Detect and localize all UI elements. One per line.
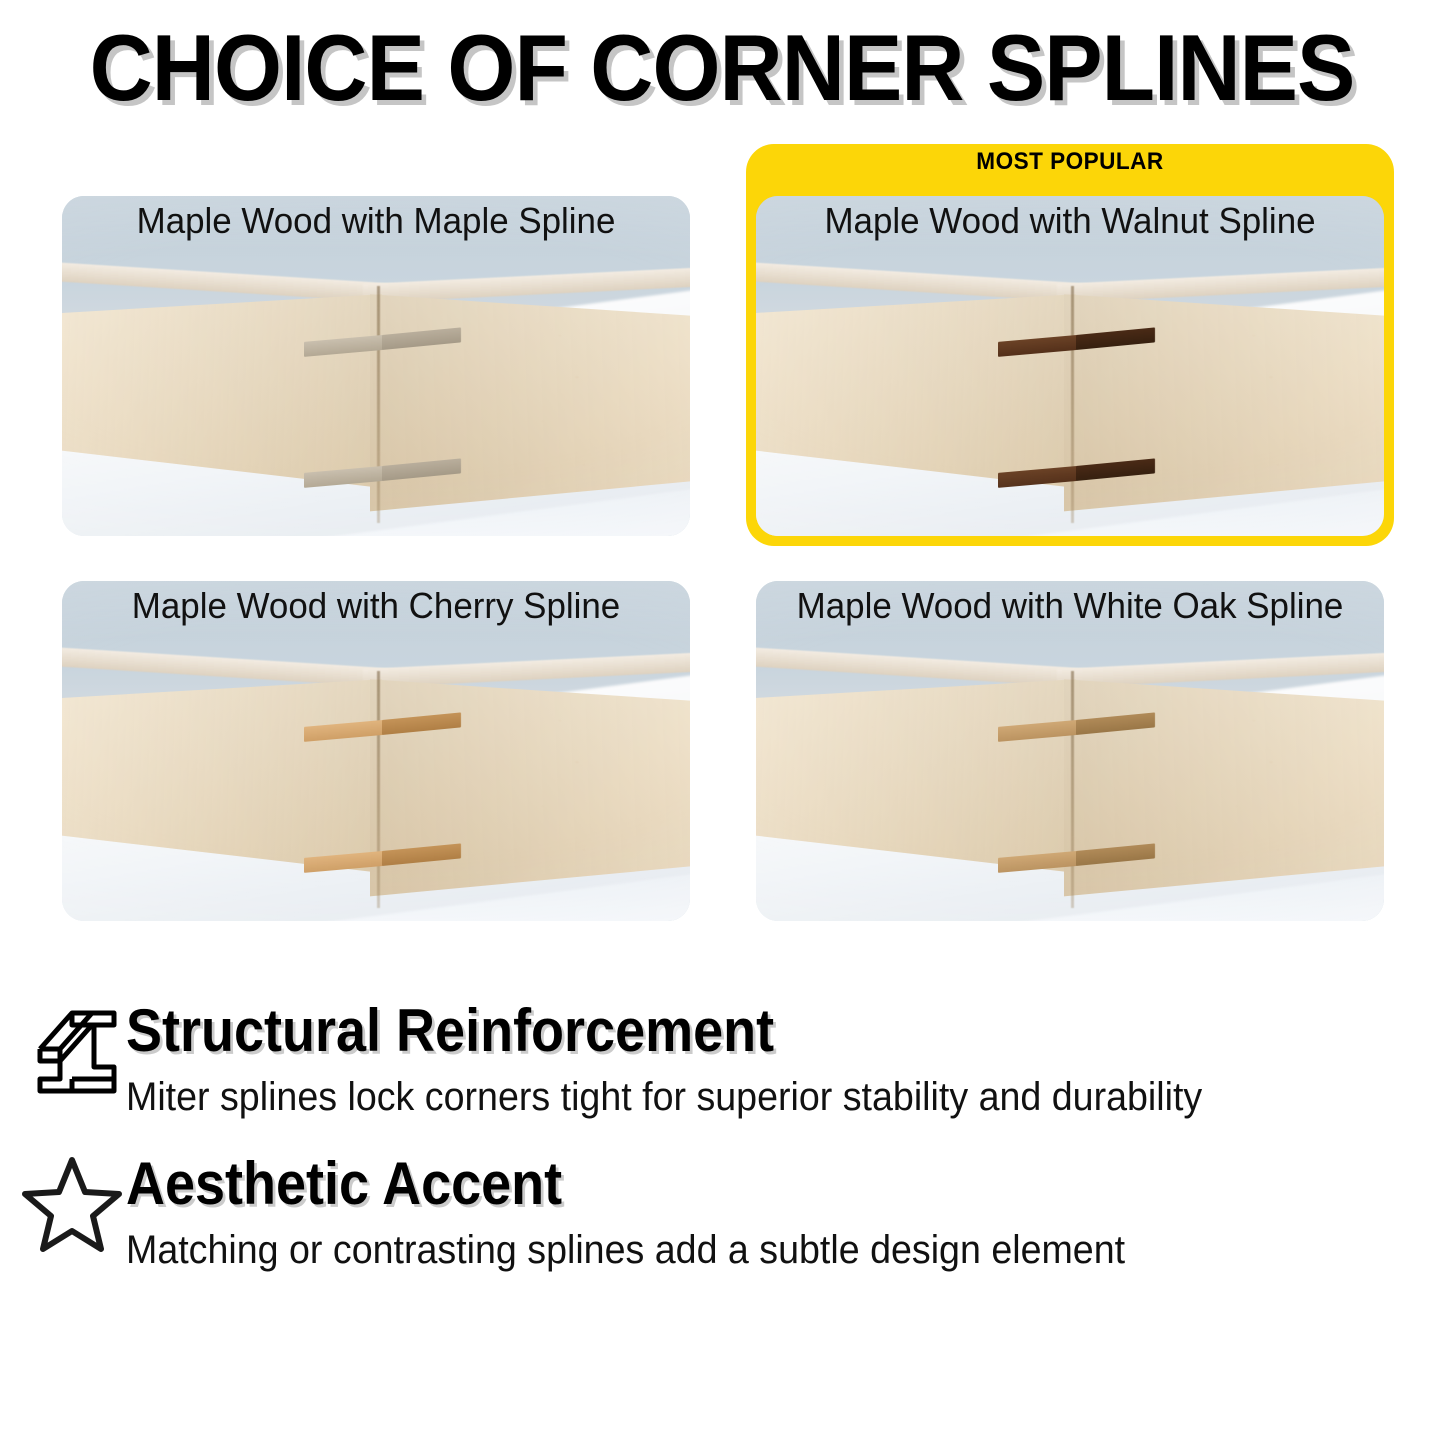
- most-popular-badge: MOST POPULAR: [765, 148, 1374, 176]
- feature-title: Structural Reinforcement: [126, 999, 1156, 1062]
- miter-seam: [377, 286, 380, 522]
- feature-aesthetic-accent: Aesthetic Accent Matching or contrasting…: [0, 1148, 1445, 1273]
- wooden-box-corner: [756, 267, 1384, 536]
- wood-grain: [1064, 294, 1384, 525]
- i-beam-icon: [18, 995, 126, 1105]
- feature-text: Structural Reinforcement Miter splines l…: [126, 995, 1271, 1120]
- box-rim-right: [1057, 651, 1384, 687]
- spline-lower: [998, 466, 1155, 481]
- spline-option-label: Maple Wood with Walnut Spline: [765, 200, 1374, 242]
- feature-text: Aesthetic Accent Matching or contrasting…: [126, 1148, 1189, 1273]
- box-face-right: [370, 679, 690, 910]
- box-face-right: [1064, 294, 1384, 525]
- wooden-box-corner: [756, 652, 1384, 921]
- spline-option-label: Maple Wood with White Oak Spline: [765, 585, 1374, 627]
- spline-photo-cherry: Maple Wood with Cherry Spline: [62, 581, 690, 921]
- spline-option-card-maple[interactable]: Maple Wood with Maple Spline: [62, 196, 690, 536]
- spline-lower: [304, 466, 461, 481]
- miter-seam: [1071, 286, 1074, 522]
- spline-photo-white-oak: Maple Wood with White Oak Spline: [756, 581, 1384, 921]
- spline-upper: [998, 720, 1155, 735]
- spline-upper: [304, 335, 461, 350]
- box-rim-right: [363, 266, 690, 302]
- spline-lower: [304, 851, 461, 866]
- spline-option-label: Maple Wood with Cherry Spline: [71, 585, 680, 627]
- box-rim-right: [1057, 266, 1384, 302]
- wooden-box-corner: [62, 267, 690, 536]
- miter-seam: [377, 671, 380, 907]
- page-header: CHOICE OF CORNER SPLINES: [0, 0, 1445, 130]
- wooden-box-corner: [62, 652, 690, 921]
- box-face-right: [370, 294, 690, 525]
- spline-photo-walnut: Maple Wood with Walnut Spline: [756, 196, 1384, 536]
- box-face-right: [1064, 679, 1384, 910]
- spline-option-label: Maple Wood with Maple Spline: [71, 200, 680, 242]
- wood-grain: [370, 294, 690, 525]
- miter-seam: [1071, 671, 1074, 907]
- spline-photo-maple: Maple Wood with Maple Spline: [62, 196, 690, 536]
- spline-option-card-white-oak[interactable]: Maple Wood with White Oak Spline: [756, 581, 1384, 921]
- star-icon: [18, 1148, 126, 1258]
- box-rim-right: [363, 651, 690, 687]
- feature-description: Miter splines lock corners tight for sup…: [126, 1074, 1202, 1120]
- spline-upper: [998, 335, 1155, 350]
- feature-title: Aesthetic Accent: [126, 1152, 1083, 1215]
- spline-option-card-cherry[interactable]: Maple Wood with Cherry Spline: [62, 581, 690, 921]
- features-section: Structural Reinforcement Miter splines l…: [0, 995, 1445, 1301]
- spline-upper: [304, 720, 461, 735]
- wood-grain: [370, 679, 690, 910]
- wood-grain: [1064, 679, 1384, 910]
- page-title: CHOICE OF CORNER SPLINES: [90, 21, 1355, 115]
- spline-options-grid: Maple Wood with Maple Spline MOST POPULA…: [62, 196, 1395, 921]
- spline-lower: [998, 851, 1155, 866]
- spline-option-card-walnut[interactable]: MOST POPULAR: [746, 144, 1394, 546]
- feature-description: Matching or contrasting splines add a su…: [126, 1227, 1125, 1273]
- feature-structural-reinforcement: Structural Reinforcement Miter splines l…: [0, 995, 1445, 1120]
